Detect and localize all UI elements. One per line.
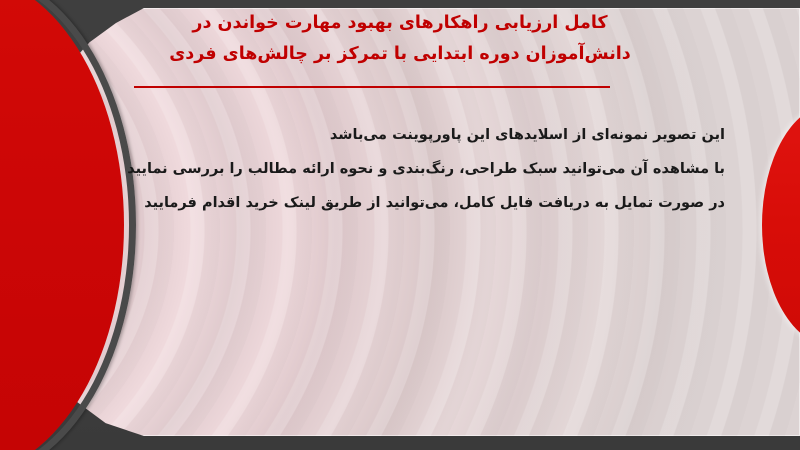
slide-canvas: کامل ارزیابی راهکارهای بهبود مهارت خواند… bbox=[0, 0, 800, 450]
slide-title-underline bbox=[134, 86, 610, 88]
slide-body-line-3: در صورت تمایل به دریافت فایل کامل، می‌تو… bbox=[127, 186, 725, 220]
slide-body-line-2: با مشاهده آن می‌توانید سبک طراحی، رنگ‌بن… bbox=[127, 152, 725, 186]
slide-body-line-1: این تصویر نمونه‌ای از اسلایدهای این پاور… bbox=[127, 118, 725, 152]
slide-body-text: این تصویر نمونه‌ای از اسلایدهای این پاور… bbox=[127, 118, 725, 220]
slide-title: کامل ارزیابی راهکارهای بهبود مهارت خواند… bbox=[120, 8, 680, 70]
slide-title-line-2: دانش‌آموزان دوره ابتدایی با تمرکز بر چال… bbox=[120, 39, 680, 70]
slide-title-line-1: کامل ارزیابی راهکارهای بهبود مهارت خواند… bbox=[120, 8, 680, 39]
